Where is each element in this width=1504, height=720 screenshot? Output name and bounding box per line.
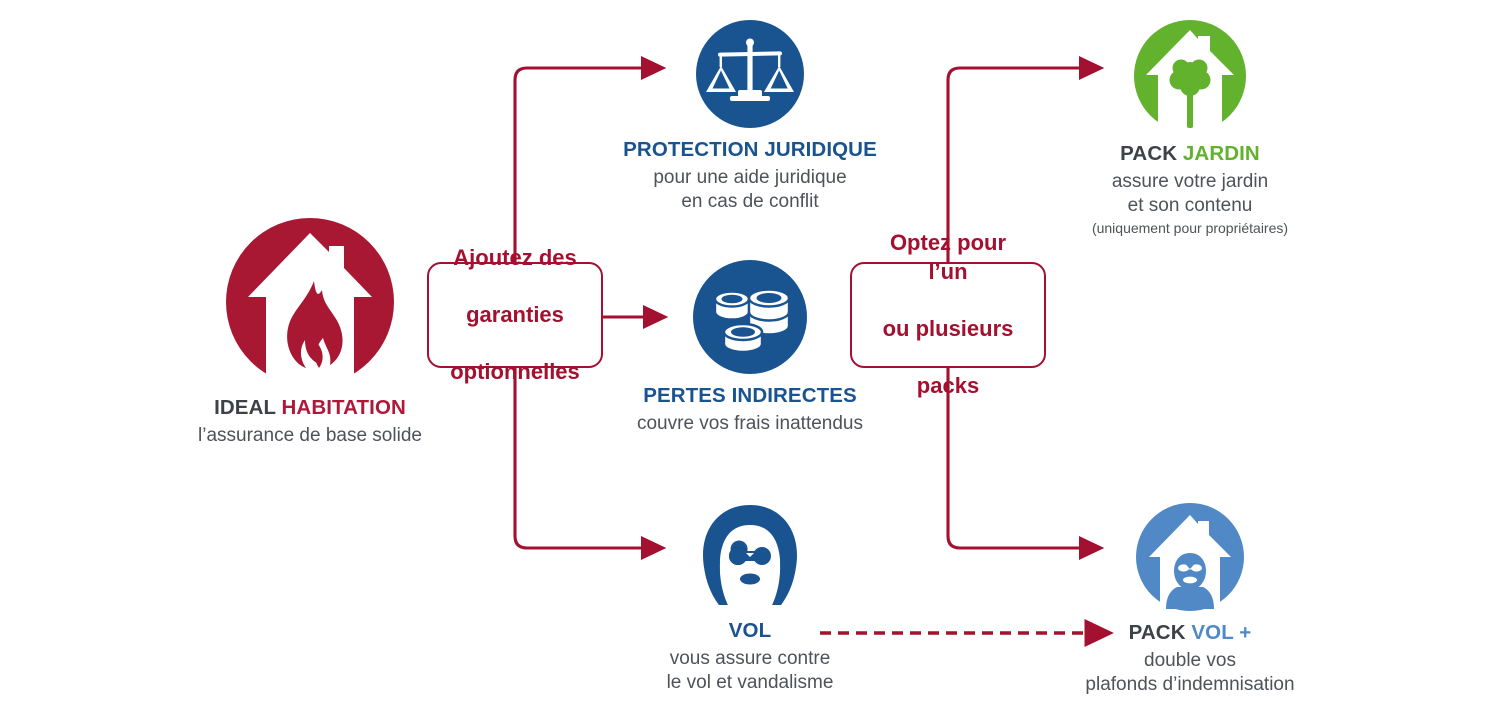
pack-1-title-part2: JARDIN: [1183, 142, 1260, 165]
callout-1-line1: Ajoutez des: [442, 244, 588, 273]
callout-2-line2: ou plusieurs: [860, 315, 1036, 344]
pack-1-sub-line2: et son contenu: [1128, 195, 1253, 216]
pack-2-title: PACK VOL +: [1040, 621, 1340, 645]
scales-of-justice-icon: [696, 20, 804, 128]
node-pack-jardin: PACK JARDIN assure votre jardin et son c…: [1040, 20, 1340, 238]
callout-1-line3: optionnelles: [442, 358, 588, 387]
callout-choose-packs[interactable]: Optez pour l’un ou plusieurs packs: [850, 262, 1046, 368]
callout-2-text: Optez pour l’un ou plusieurs packs: [852, 229, 1044, 401]
coins-stack-icon: [693, 260, 807, 374]
node-protection-juridique: PROTECTION JURIDIQUE pour une aide jurid…: [600, 20, 900, 214]
pack-1-fine-print: (uniquement pour propriétaires): [1040, 220, 1340, 238]
base-subtitle: l’assurance de base solide: [160, 424, 460, 448]
base-title-part1: IDEAL: [214, 396, 276, 419]
pack-1-sub: assure votre jardin et son contenu: [1040, 170, 1340, 219]
option-3-sub: vous assure contre le vol et vandalisme: [600, 647, 900, 696]
option-3-title: VOL: [600, 619, 900, 643]
option-3-sub-line2: le vol et vandalisme: [667, 672, 834, 693]
house-tree-icon: [1134, 20, 1246, 132]
callout-1-line2: garanties: [442, 301, 588, 330]
pack-2-title-part2: VOL +: [1191, 621, 1251, 644]
infographic-canvas: IDEAL HABITATION l’assurance de base sol…: [0, 0, 1504, 720]
pack-2-sub-line1: double vos: [1144, 650, 1236, 671]
option-1-sub: pour une aide juridique en cas de confli…: [600, 166, 900, 215]
pack-1-sub-line1: assure votre jardin: [1112, 171, 1268, 192]
node-vol: VOL vous assure contre le vol et vandali…: [600, 503, 900, 695]
option-1-sub-line2: en cas de conflit: [681, 191, 818, 212]
option-1-title: PROTECTION JURIDIQUE: [600, 138, 900, 162]
node-ideal-habitation: IDEAL HABITATION l’assurance de base sol…: [160, 218, 460, 448]
callout-add-optional-guarantees[interactable]: Ajoutez des garanties optionnelles: [427, 262, 603, 368]
option-1-sub-line1: pour une aide juridique: [653, 167, 846, 188]
pack-2-sub: double vos plafonds d’indemnisation: [1040, 649, 1340, 698]
option-3-sub-line1: vous assure contre: [670, 648, 831, 669]
pack-2-title-part1: PACK: [1129, 621, 1186, 644]
option-2-sub: couvre vos frais inattendus: [600, 412, 900, 436]
callout-1-text: Ajoutez des garanties optionnelles: [434, 244, 596, 387]
callout-2-line3: packs: [860, 372, 1036, 401]
house-burglar-icon: [1136, 503, 1244, 611]
callout-2-line1: Optez pour l’un: [860, 229, 1036, 286]
pack-2-sub-line2: plafonds d’indemnisation: [1085, 674, 1294, 695]
node-pack-vol-plus: PACK VOL + double vos plafonds d’indemni…: [1040, 503, 1340, 697]
house-flame-icon: [226, 218, 394, 386]
base-title-part2: HABITATION: [282, 396, 406, 419]
pack-1-title-part1: PACK: [1120, 142, 1177, 165]
burglar-head-icon: [697, 503, 803, 609]
pack-1-title: PACK JARDIN: [1040, 142, 1340, 166]
base-title: IDEAL HABITATION: [160, 396, 460, 420]
